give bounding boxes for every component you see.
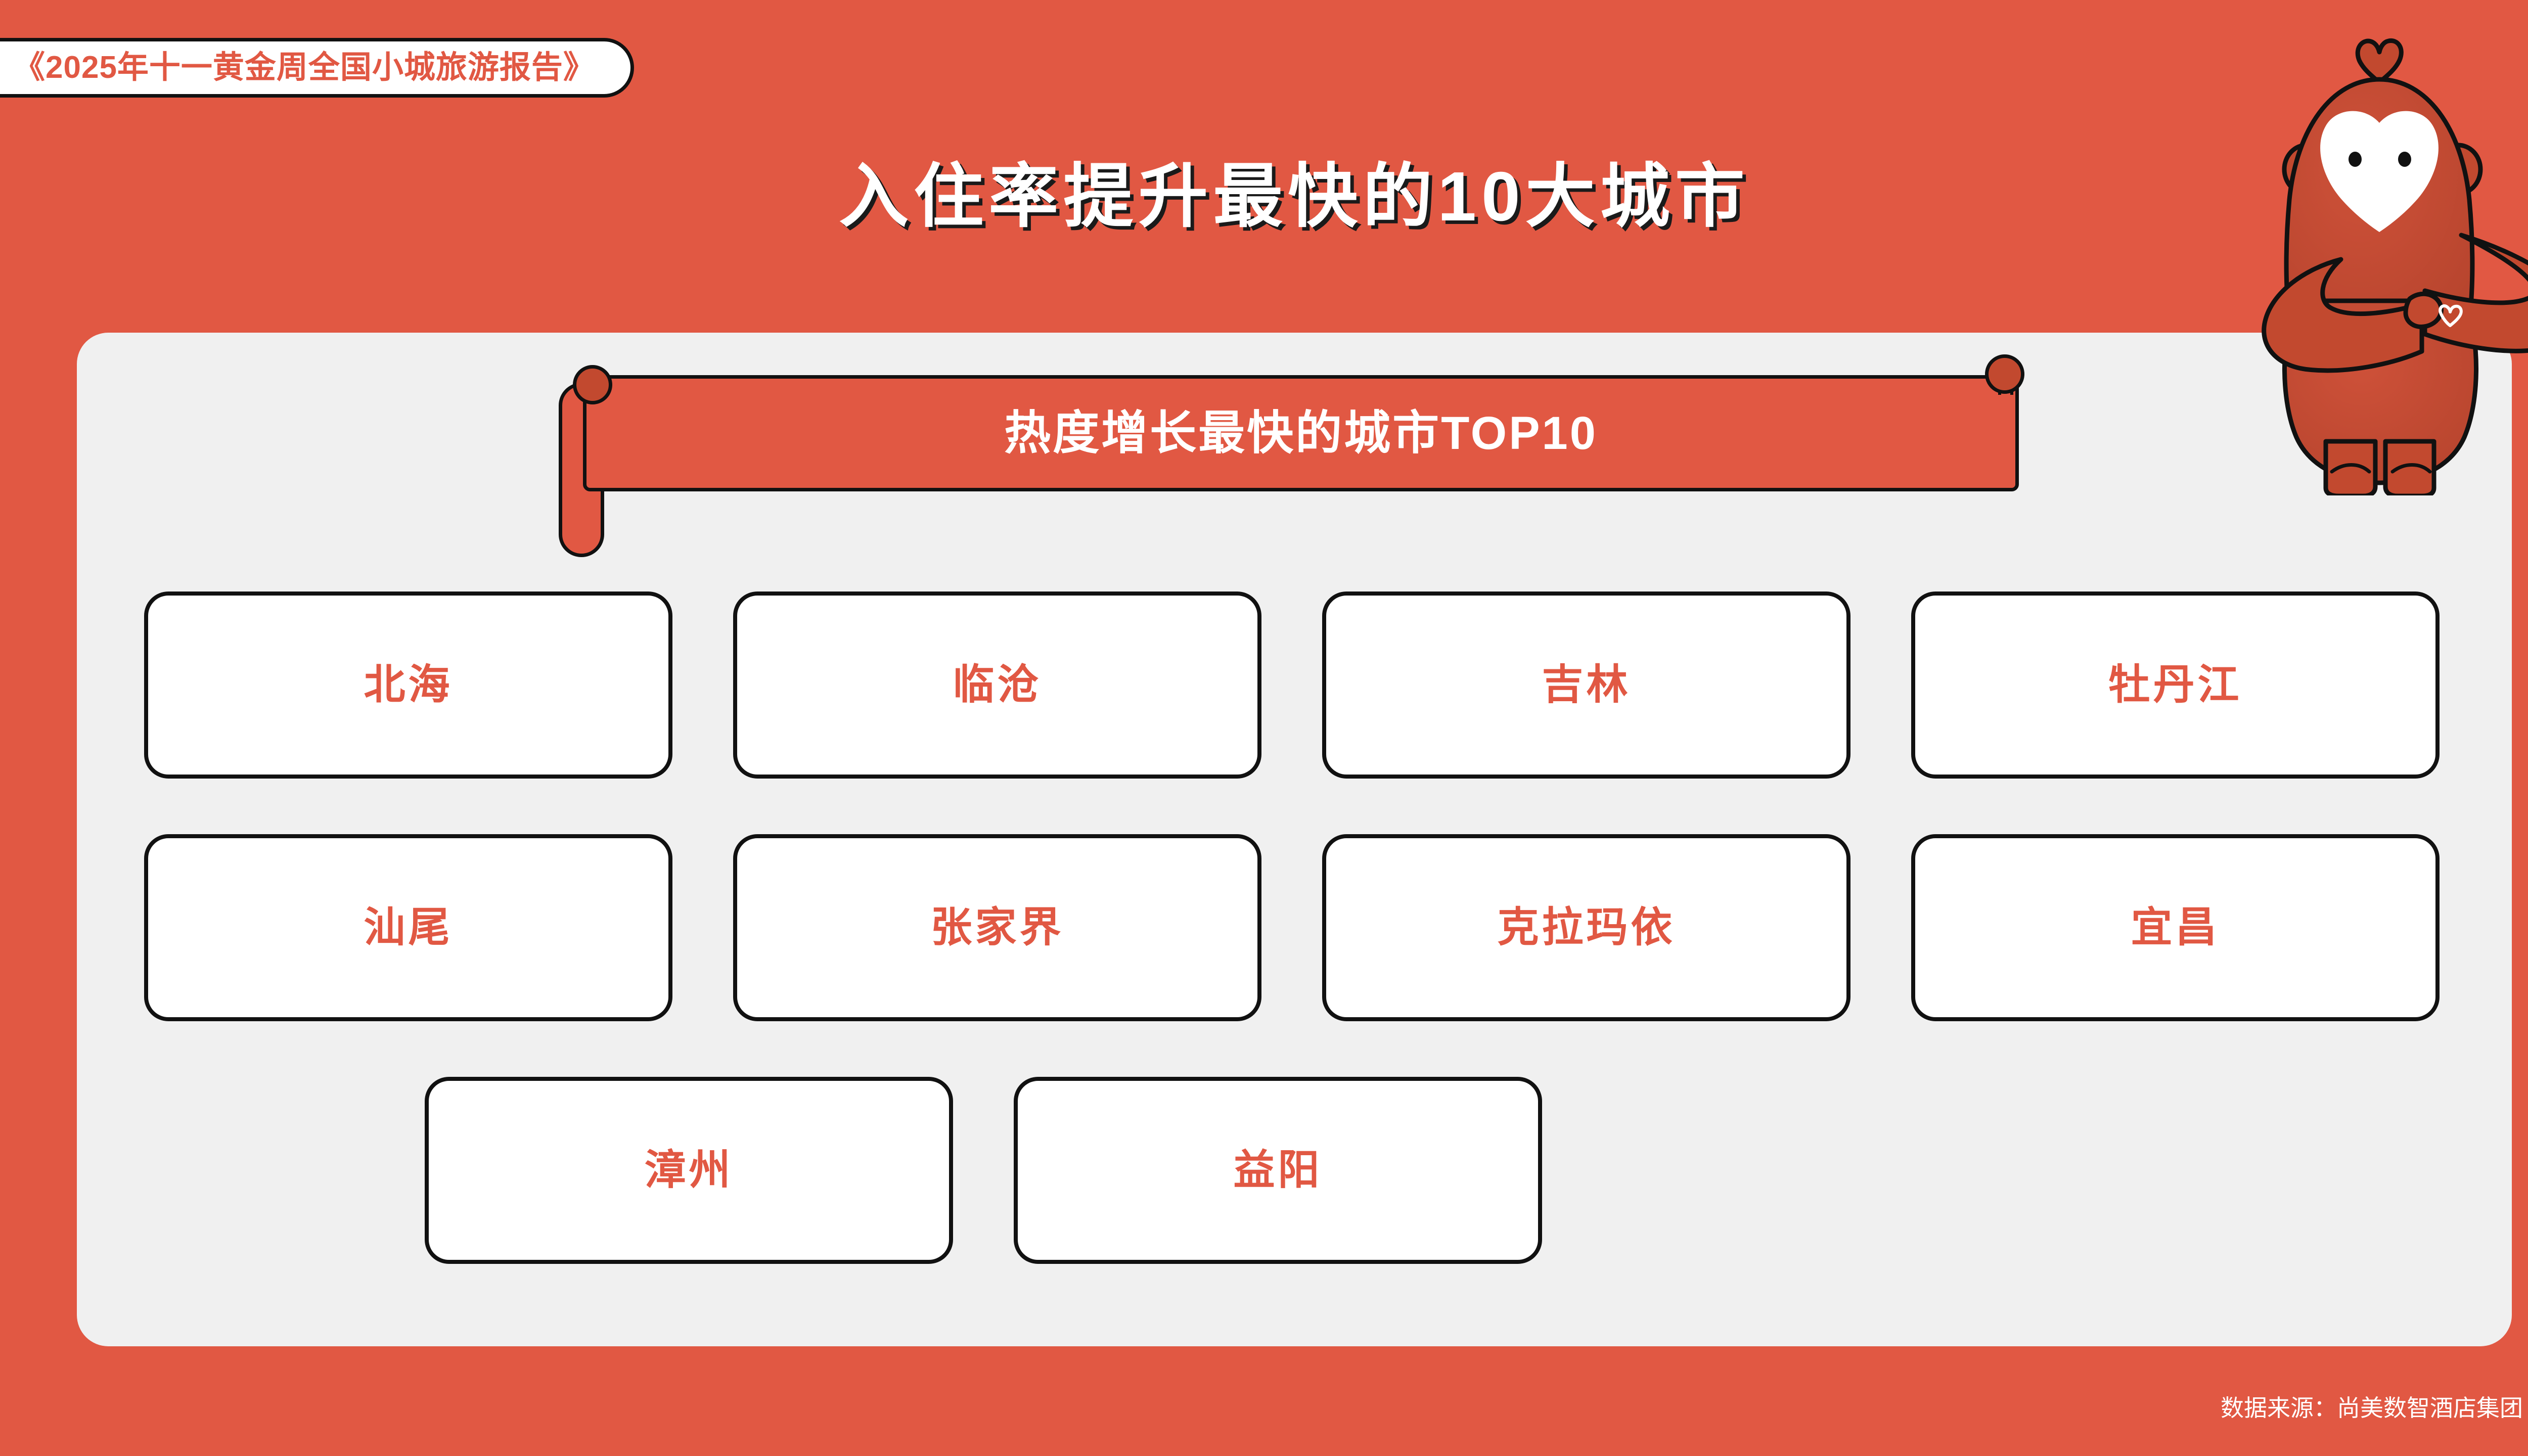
city-card-5[interactable]: 汕尾: [144, 834, 672, 1021]
report-badge-label: 《2025年十一黄金周全国小城旅游报告》: [14, 52, 595, 83]
page-title-text: 入住率提升最快的10大城市: [839, 162, 1750, 232]
city-name-label: 汕尾: [364, 907, 453, 948]
city-card-row: 漳州 益阳: [144, 1077, 2445, 1264]
city-name-label: 牡丹江: [2108, 664, 2242, 706]
page-title: 入住率提升最快的10大城市: [0, 162, 2528, 232]
city-name-label: 北海: [364, 664, 453, 706]
city-card-8[interactable]: 宜昌: [1911, 834, 2440, 1021]
city-card-7[interactable]: 克拉玛依: [1322, 834, 1850, 1021]
city-card-6[interactable]: 张家界: [733, 834, 1261, 1021]
city-card-3[interactable]: 吉林: [1322, 591, 1850, 779]
data-source-label: 数据来源：尚美数智酒店集团: [2221, 1396, 2523, 1420]
city-name-label: 临沧: [953, 664, 1042, 706]
city-name-label: 张家界: [930, 907, 1064, 948]
city-card-10[interactable]: 益阳: [1014, 1077, 1542, 1264]
report-badge: 《2025年十一黄金周全国小城旅游报告》: [0, 38, 634, 98]
ribbon-curl-right-icon: [1985, 354, 2024, 394]
ribbon-banner: 热度增长最快的城市TOP10: [559, 375, 2043, 491]
ribbon-banner-label: 热度增长最快的城市TOP10: [1004, 410, 1598, 457]
mascot-bear-icon: [2260, 18, 2528, 495]
city-card-grid: 北海 临沧 吉林 牡丹江 汕尾 张家界 克拉玛依 宜昌 漳州 益阳: [144, 591, 2445, 1264]
ribbon-banner-body: 热度增长最快的城市TOP10: [583, 375, 2019, 491]
city-card-1[interactable]: 北海: [144, 591, 672, 779]
city-name-label: 宜昌: [2131, 907, 2220, 948]
city-name-label: 益阳: [1233, 1150, 1322, 1191]
city-name-label: 克拉玛依: [1497, 907, 1675, 948]
city-name-label: 漳州: [644, 1150, 733, 1191]
city-card-row: 北海 临沧 吉林 牡丹江: [144, 591, 2445, 779]
city-card-4[interactable]: 牡丹江: [1911, 591, 2440, 779]
ribbon-curl-left-icon: [573, 365, 612, 404]
city-card-9[interactable]: 漳州: [425, 1077, 953, 1264]
city-card-row: 汕尾 张家界 克拉玛依 宜昌: [144, 834, 2445, 1021]
city-name-label: 吉林: [1542, 664, 1631, 706]
city-card-2[interactable]: 临沧: [733, 591, 1261, 779]
